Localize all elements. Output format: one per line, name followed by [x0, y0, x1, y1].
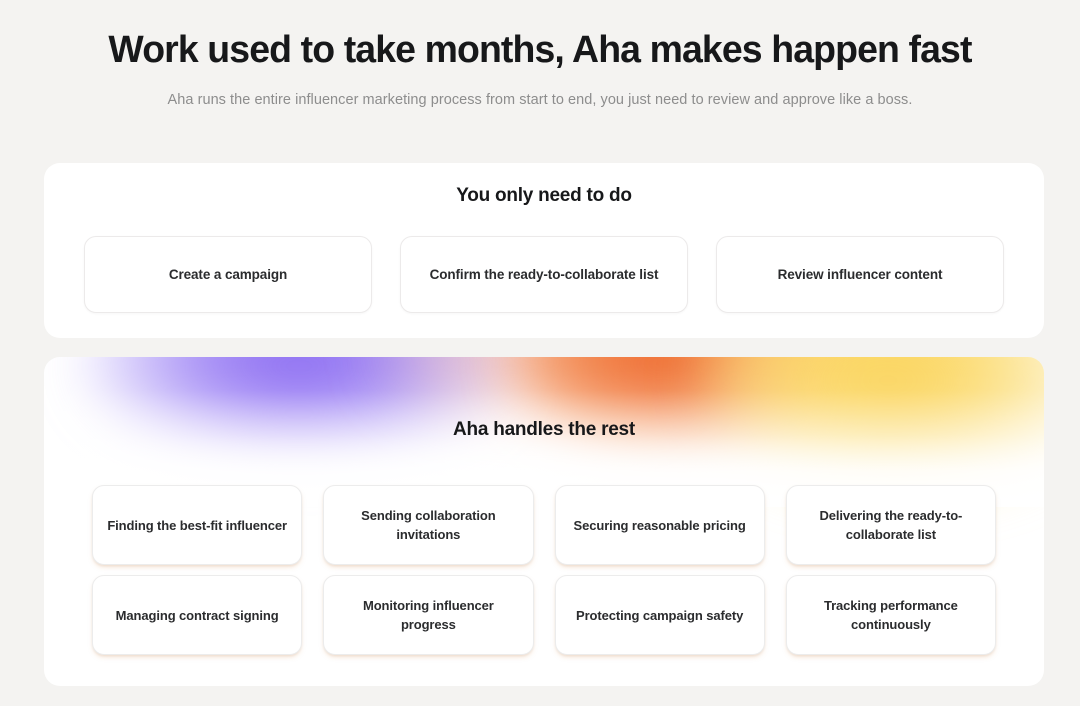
aha-task-card-label: Managing contract signing [116, 606, 279, 625]
user-tasks-panel: You only need to do Create a campaign Co… [44, 163, 1044, 338]
user-task-card[interactable]: Review influencer content [716, 236, 1004, 313]
aha-task-card[interactable]: Tracking performance continuously [786, 575, 996, 655]
aha-task-card-label: Monitoring influencer progress [336, 596, 520, 634]
aha-task-card-label: Sending collaboration invitations [336, 506, 520, 544]
user-task-card[interactable]: Confirm the ready-to-collaborate list [400, 236, 688, 313]
user-tasks-card-row: Create a campaign Confirm the ready-to-c… [44, 236, 1044, 313]
aha-tasks-grid: Finding the best-fit influencer Sending … [44, 485, 1044, 655]
aha-task-card[interactable]: Monitoring influencer progress [323, 575, 533, 655]
aha-task-card-label: Protecting campaign safety [576, 606, 743, 625]
aha-task-card[interactable]: Managing contract signing [92, 575, 302, 655]
aha-tasks-heading: Aha handles the rest [44, 417, 1044, 443]
aha-task-card-label: Delivering the ready-to-collaborate list [799, 506, 983, 544]
page-subtitle: Aha runs the entire influencer marketing… [0, 90, 1080, 110]
gradient-blob-purple-icon [84, 357, 514, 461]
hero-section: Work used to take months, Aha makes happ… [0, 0, 1080, 110]
aha-task-card[interactable]: Sending collaboration invitations [323, 485, 533, 565]
aha-task-card-label: Tracking performance continuously [799, 596, 983, 634]
user-task-card-label: Confirm the ready-to-collaborate list [430, 267, 659, 282]
aha-task-card-label: Finding the best-fit influencer [107, 516, 287, 535]
aha-task-card[interactable]: Delivering the ready-to-collaborate list [786, 485, 996, 565]
aha-task-card-label: Securing reasonable pricing [574, 516, 746, 535]
user-task-card-label: Create a campaign [169, 267, 287, 282]
user-tasks-heading: You only need to do [44, 183, 1044, 209]
aha-tasks-panel: Aha handles the rest Finding the best-fi… [44, 357, 1044, 686]
aha-task-card[interactable]: Securing reasonable pricing [555, 485, 765, 565]
user-task-card-label: Review influencer content [778, 267, 943, 282]
aha-task-card[interactable]: Protecting campaign safety [555, 575, 765, 655]
landing-page: Work used to take months, Aha makes happ… [0, 0, 1080, 706]
page-title: Work used to take months, Aha makes happ… [8, 26, 1072, 74]
aha-task-card[interactable]: Finding the best-fit influencer [92, 485, 302, 565]
user-task-card[interactable]: Create a campaign [84, 236, 372, 313]
